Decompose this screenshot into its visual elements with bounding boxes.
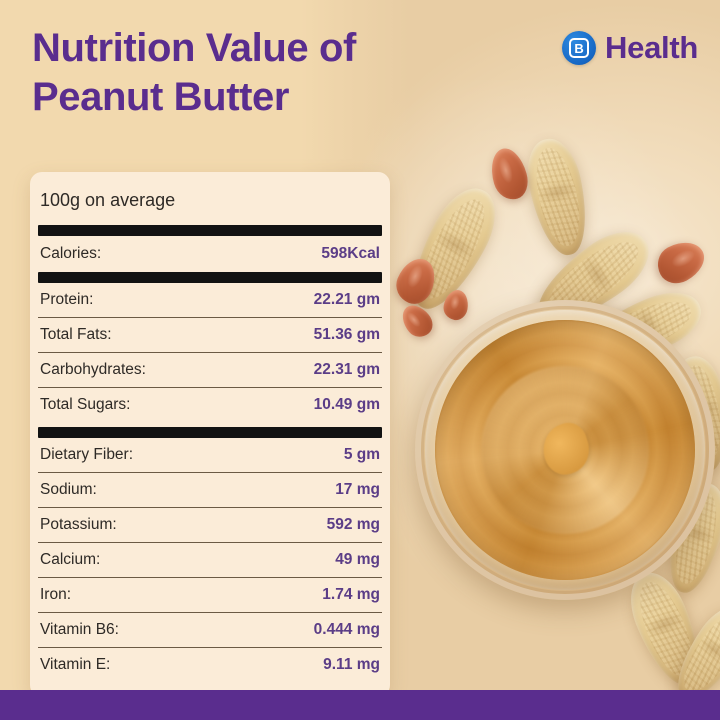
calories-group: Calories: 598Kcal bbox=[38, 236, 382, 272]
row-label: Sodium: bbox=[40, 481, 97, 499]
brand-logo[interactable]: B Health bbox=[562, 30, 698, 66]
table-row: Iron: 1.74 mg bbox=[38, 578, 382, 613]
page-title-line-2: Peanut Butter bbox=[32, 73, 452, 122]
page-title-line-1: Nutrition Value of bbox=[32, 24, 452, 73]
infographic-poster: Nutrition Value of Peanut Butter B Healt… bbox=[0, 0, 720, 720]
page-title: Nutrition Value of Peanut Butter bbox=[32, 24, 452, 122]
table-row: Total Fats: 51.36 gm bbox=[38, 318, 382, 353]
row-value: 9.11 mg bbox=[323, 656, 380, 674]
row-label: Iron: bbox=[40, 586, 71, 604]
row-label: Calories: bbox=[40, 245, 101, 263]
logo-letter: B bbox=[569, 38, 589, 58]
row-value: 22.31 gm bbox=[314, 361, 380, 379]
peanut-butter-surface bbox=[435, 320, 695, 580]
row-label: Protein: bbox=[40, 291, 93, 309]
serving-size-header: 100g on average bbox=[38, 188, 382, 225]
row-value: 10.49 gm bbox=[314, 396, 380, 414]
row-value: 0.444 mg bbox=[314, 621, 380, 639]
table-row: Total Sugars: 10.49 gm bbox=[38, 388, 382, 422]
table-row: Sodium: 17 mg bbox=[38, 473, 382, 508]
nutrition-facts-card: 100g on average Calories: 598Kcal Protei… bbox=[30, 172, 390, 697]
row-value: 49 mg bbox=[335, 551, 380, 569]
table-row: Carbohydrates: 22.31 gm bbox=[38, 353, 382, 388]
table-row: Potassium: 592 mg bbox=[38, 508, 382, 543]
row-label: Calcium: bbox=[40, 551, 100, 569]
row-label: Vitamin E: bbox=[40, 656, 110, 674]
micronutrients-group: Dietary Fiber: 5 gm Sodium: 17 mg Potass… bbox=[38, 438, 382, 683]
table-row: Dietary Fiber: 5 gm bbox=[38, 438, 382, 473]
row-value: 592 mg bbox=[327, 516, 380, 534]
row-label: Vitamin B6: bbox=[40, 621, 119, 639]
row-value: 1.74 mg bbox=[322, 586, 380, 604]
row-value: 598Kcal bbox=[321, 245, 380, 263]
row-label: Carbohydrates: bbox=[40, 361, 146, 379]
row-value: 17 mg bbox=[335, 481, 380, 499]
b-health-logo-icon: B bbox=[562, 31, 596, 65]
table-row: Calcium: 49 mg bbox=[38, 543, 382, 578]
table-row: Vitamin E: 9.11 mg bbox=[38, 648, 382, 682]
row-label: Dietary Fiber: bbox=[40, 446, 133, 464]
divider-thick-mid bbox=[38, 272, 382, 283]
row-label: Total Fats: bbox=[40, 326, 112, 344]
brand-name: Health bbox=[605, 30, 698, 66]
row-value: 22.21 gm bbox=[314, 291, 380, 309]
table-row: Calories: 598Kcal bbox=[38, 236, 382, 272]
row-label: Total Sugars: bbox=[40, 396, 130, 414]
divider-thick-top bbox=[38, 225, 382, 236]
row-value: 51.36 gm bbox=[314, 326, 380, 344]
divider-thick-bottom bbox=[38, 427, 382, 438]
table-row: Protein: 22.21 gm bbox=[38, 283, 382, 318]
macronutrients-group: Protein: 22.21 gm Total Fats: 51.36 gm C… bbox=[38, 283, 382, 423]
footer-bar bbox=[0, 690, 720, 720]
table-row: Vitamin B6: 0.444 mg bbox=[38, 613, 382, 648]
row-value: 5 gm bbox=[344, 446, 380, 464]
row-label: Potassium: bbox=[40, 516, 117, 534]
peanut-butter-bowl bbox=[415, 300, 715, 600]
